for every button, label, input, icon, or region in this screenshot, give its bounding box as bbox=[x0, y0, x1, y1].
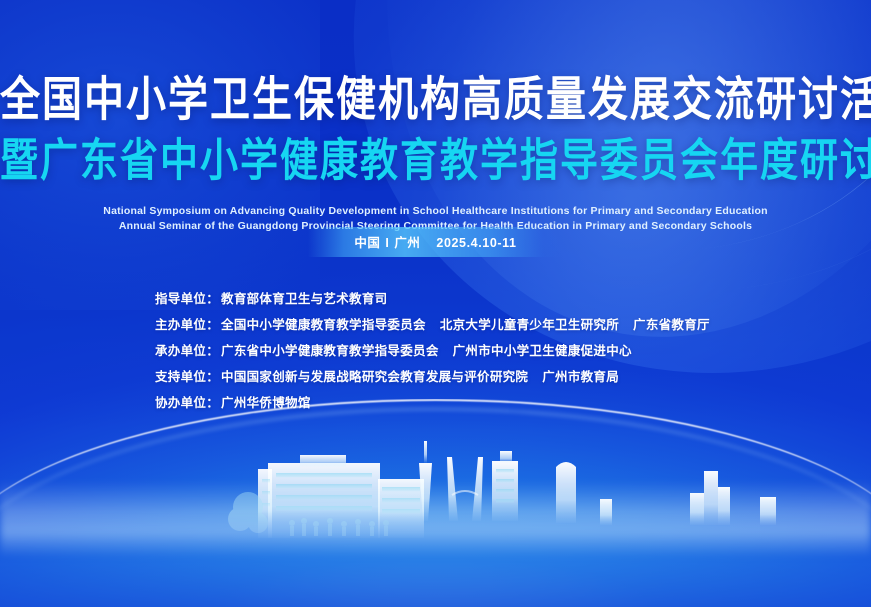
school-building bbox=[228, 455, 424, 538]
sweep-stroke-primary bbox=[0, 399, 871, 579]
venue-date-ribbon: 中国I广州2025.4.10-11 bbox=[308, 227, 562, 257]
sweep-stroke-glow bbox=[0, 408, 871, 579]
organization-label: 支持单位： bbox=[155, 370, 219, 384]
event-date: 2025.4.10-11 bbox=[436, 236, 516, 250]
poster-title-chinese-secondary: 暨广东省中小学健康教育教学指导委员会年度研讨活动 bbox=[0, 134, 871, 188]
skyscraper-cluster-right bbox=[600, 471, 776, 525]
student-figures bbox=[289, 518, 389, 536]
organization-entry: 广州华侨博物馆 bbox=[221, 396, 311, 410]
organization-label: 指导单位： bbox=[155, 292, 219, 306]
organization-row: 支持单位：中国国家创新与发展战略研究会教育发展与评价研究院广州市教育局 bbox=[155, 364, 710, 390]
venue-separator: I bbox=[380, 236, 394, 250]
organization-label: 主办单位： bbox=[155, 318, 219, 332]
skyscraper-stepped bbox=[492, 451, 518, 521]
organization-entry: 中国国家创新与发展战略研究会教育发展与评价研究院 bbox=[221, 370, 528, 384]
organization-entry: 广东省中小学健康教育教学指导委员会 bbox=[221, 344, 439, 358]
poster-title-chinese-primary: 全国中小学卫生保健机构高质量发展交流研讨活动 bbox=[0, 72, 871, 129]
organization-entry: 全国中小学健康教育教学指导委员会 bbox=[221, 318, 426, 332]
conference-poster: 全国中小学卫生保健机构高质量发展交流研讨活动 暨广东省中小学健康教育教学指导委员… bbox=[0, 0, 871, 607]
organization-entry: 广州市中小学卫生健康促进中心 bbox=[453, 344, 632, 358]
city-skyline-illustration bbox=[0, 435, 871, 545]
venue-country: 中国 bbox=[354, 236, 380, 250]
skyscraper-rounded bbox=[556, 462, 576, 523]
organization-list: 指导单位：教育部体育卫生与艺术教育司 主办单位：全国中小学健康教育教学指导委员会… bbox=[155, 286, 710, 416]
organization-row: 承办单位：广东省中小学健康教育教学指导委员会广州市中小学卫生健康促进中心 bbox=[155, 338, 710, 364]
poster-subtitle-english-line1: National Symposium on Advancing Quality … bbox=[103, 205, 767, 217]
organization-row: 协办单位：广州华侨博物馆 bbox=[155, 390, 710, 416]
organization-entry: 北京大学儿童青少年卫生研究所 bbox=[440, 318, 619, 332]
venue-city: 广州 bbox=[394, 236, 420, 250]
organization-label: 协办单位： bbox=[155, 396, 219, 410]
organization-label: 承办单位： bbox=[155, 344, 219, 358]
venue-date-ribbon-wrapper: 中国I广州2025.4.10-11 bbox=[0, 227, 871, 257]
ground-mist bbox=[0, 481, 871, 555]
headline-block: 全国中小学卫生保健机构高质量发展交流研讨活动 暨广东省中小学健康教育教学指导委员… bbox=[0, 72, 871, 234]
twin-towers bbox=[447, 457, 483, 521]
canton-tower bbox=[419, 441, 432, 521]
organization-entry: 广州市教育局 bbox=[542, 370, 619, 384]
bottom-gradient-overlay bbox=[0, 511, 871, 607]
horizon-sweep-line bbox=[0, 399, 871, 579]
organization-entry: 教育部体育卫生与艺术教育司 bbox=[221, 292, 387, 306]
organization-row: 指导单位：教育部体育卫生与艺术教育司 bbox=[155, 286, 710, 312]
organization-entry: 广东省教育厅 bbox=[633, 318, 710, 332]
organization-row: 主办单位：全国中小学健康教育教学指导委员会北京大学儿童青少年卫生研究所广东省教育… bbox=[155, 312, 710, 338]
